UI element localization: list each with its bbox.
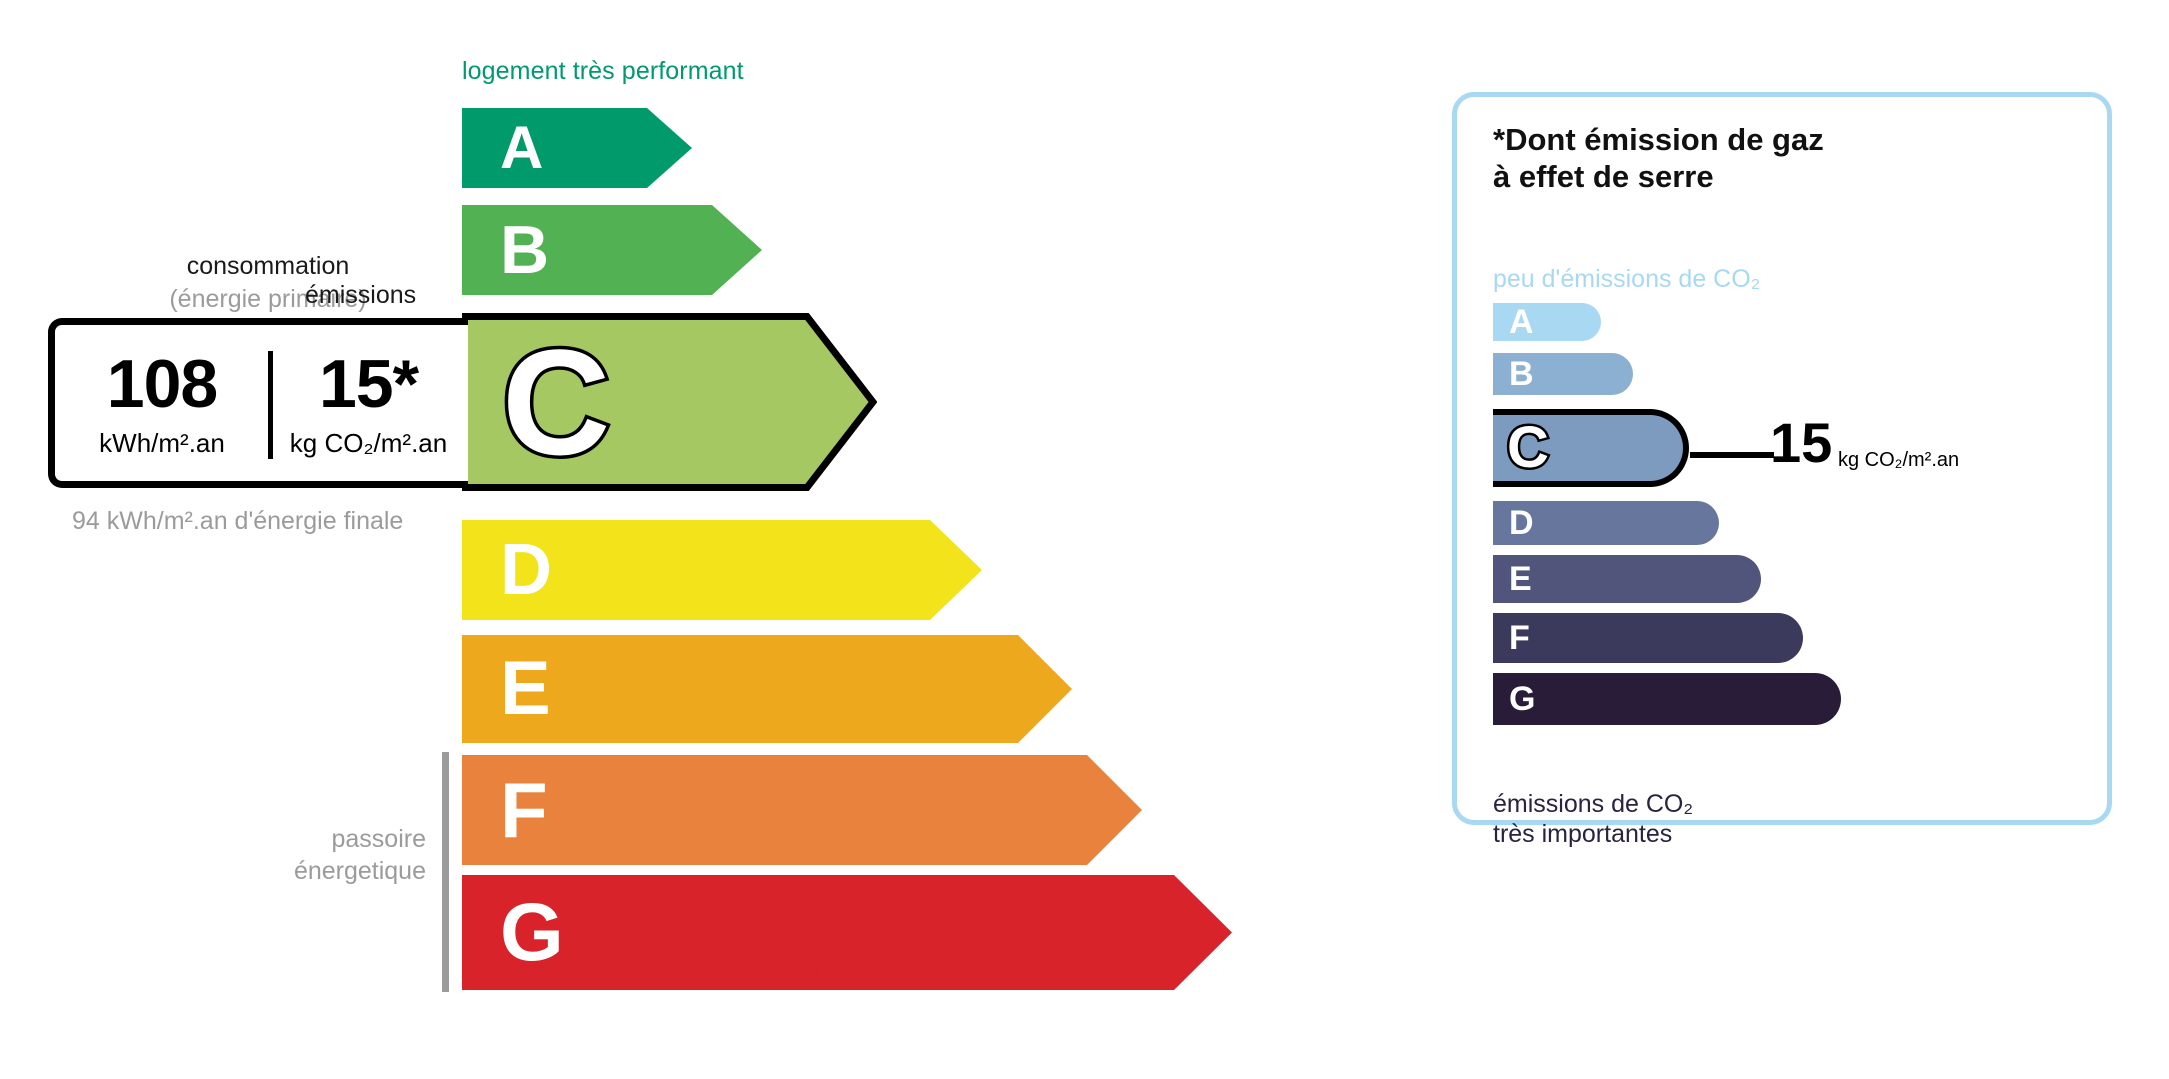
co2-class-bar-f: F [1493, 613, 1803, 663]
energy-class-letter-f: F [500, 771, 548, 849]
arrow-shape-f [462, 755, 1142, 865]
caption-extreme-consumption: logement extrêmement consommateur d'éner… [462, 955, 1003, 984]
co2-class-letter-f: F [1509, 621, 1530, 655]
caption-high-performance: logement très performant [462, 57, 744, 86]
energy-class-bar-b: B [462, 205, 762, 295]
energy-class-bar-d: D [462, 520, 982, 620]
label-emissions: émissions [305, 281, 416, 310]
co2-high-emissions-note: émissions de CO₂ très importantes [1493, 789, 1693, 849]
co2-callout-value: 15 [1770, 415, 1832, 471]
co2-class-bar-d: D [1493, 501, 1719, 545]
value-emissions: 15* [319, 350, 418, 418]
value-box: 108 kWh/m².an 15* kg CO₂/m².an [48, 318, 468, 488]
co2-class-letter-g: G [1509, 682, 1535, 716]
unit-consumption: kWh/m².an [99, 430, 225, 456]
co2-callout-unit: kg CO₂/m².an [1838, 450, 1959, 470]
value-consumption-cell: 108 kWh/m².an [55, 325, 269, 481]
arrow-shape-e [462, 635, 1072, 743]
co2-class-bar-g: G [1493, 673, 1841, 725]
energy-class-bar-a: A [462, 108, 692, 188]
co2-class-letter-c: C [1507, 419, 1549, 477]
energy-class-bar-f: F [462, 755, 1142, 865]
co2-callout-leader-line [1690, 452, 1774, 458]
co2-class-bar-b: B [1493, 353, 1633, 395]
label-consumption-main: consommation [187, 252, 350, 280]
energy-performance-chart: logement très performant A B C [0, 0, 1300, 1079]
co2-panel-title: *Dont émission de gaz à effet de serre [1493, 122, 1824, 195]
energy-class-letter-d: D [500, 534, 552, 606]
co2-class-bar-c-selected: C [1493, 409, 1689, 487]
co2-class-letter-b: B [1509, 357, 1534, 391]
co2-class-letter-e: E [1509, 562, 1532, 596]
energy-class-letter-c: C [502, 327, 610, 477]
value-emissions-cell: 15* kg CO₂/m².an [269, 325, 468, 481]
co2-class-letter-d: D [1509, 506, 1534, 540]
unit-emissions: kg CO₂/m².an [290, 430, 447, 456]
co2-class-letter-a: A [1509, 305, 1534, 339]
value-consumption: 108 [107, 350, 217, 418]
energy-class-letter-e: E [500, 651, 551, 727]
co2-class-bar-e: E [1493, 555, 1761, 603]
passoire-label: passoire énergetique [200, 823, 426, 887]
arrow-shape-a [462, 108, 692, 188]
energy-class-letter-b: B [500, 216, 549, 284]
passoire-indicator-bar [442, 752, 449, 992]
co2-class-bar-a: A [1493, 303, 1601, 341]
energy-class-letter-a: A [500, 118, 543, 178]
energy-class-bar-e: E [462, 635, 1072, 743]
final-energy-note: 94 kWh/m².an d'énergie finale [72, 505, 403, 537]
energy-class-bar-c-selected: C [462, 313, 877, 491]
co2-low-emissions-note: peu d'émissions de CO₂ [1493, 265, 1760, 294]
dpe-label: logement très performant A B C [0, 0, 2169, 1079]
